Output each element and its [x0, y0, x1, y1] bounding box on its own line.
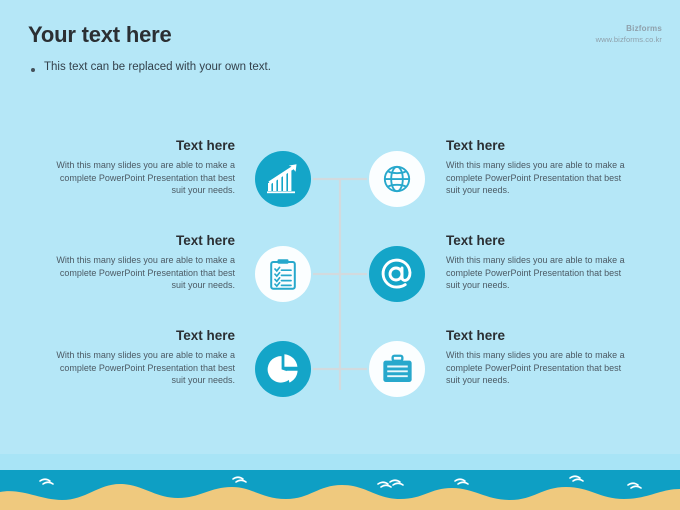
- subtitle-text: This text can be replaced with your own …: [44, 61, 271, 73]
- diagram-area: Text here With this many slides you are …: [0, 130, 680, 430]
- clipboard-checklist-icon: [270, 258, 296, 290]
- briefcase-icon: [382, 354, 413, 384]
- icon-circle-pie-chart[interactable]: [255, 341, 311, 397]
- item-heading: Text here: [446, 233, 628, 249]
- item-heading: Text here: [446, 328, 628, 344]
- row-3-right-text-block: Text here With this many slides you are …: [446, 328, 628, 387]
- beach-decoration: [0, 454, 680, 510]
- brand-block: Bizforms www.bizforms.co.kr: [596, 23, 662, 45]
- brand-name: Bizforms: [596, 23, 662, 34]
- brand-url[interactable]: www.bizforms.co.kr: [596, 34, 662, 45]
- bullet-dot-icon: [31, 68, 35, 72]
- icon-circle-bar-chart-growth[interactable]: [255, 151, 311, 207]
- item-heading: Text here: [53, 233, 235, 249]
- row-2-right-text-block: Text here With this many slides you are …: [446, 233, 628, 292]
- row-2-left-text-block: Text here With this many slides you are …: [53, 233, 235, 292]
- diagram-row: Text here With this many slides you are …: [0, 241, 680, 311]
- item-heading: Text here: [446, 138, 628, 154]
- subtitle-bullet-item: This text can be replaced with your own …: [31, 61, 271, 73]
- diagram-row: Text here With this many slides you are …: [0, 336, 680, 406]
- pie-chart-icon: [267, 353, 299, 385]
- slide-canvas: Your text here This text can be replaced…: [0, 0, 680, 510]
- icon-circle-clipboard[interactable]: [255, 246, 311, 302]
- item-body: With this many slides you are able to ma…: [446, 349, 628, 387]
- diagram-row: Text here With this many slides you are …: [0, 146, 680, 216]
- item-body: With this many slides you are able to ma…: [53, 254, 235, 292]
- icon-circle-at-sign[interactable]: [369, 246, 425, 302]
- bar-chart-growth-icon: [267, 164, 299, 194]
- row-1-left-text-block: Text here With this many slides you are …: [53, 138, 235, 197]
- item-body: With this many slides you are able to ma…: [446, 254, 628, 292]
- item-body: With this many slides you are able to ma…: [446, 159, 628, 197]
- item-heading: Text here: [53, 138, 235, 154]
- page-title: Your text here: [28, 22, 172, 48]
- row-1-right-text-block: Text here With this many slides you are …: [446, 138, 628, 197]
- icon-circle-briefcase[interactable]: [369, 341, 425, 397]
- item-body: With this many slides you are able to ma…: [53, 159, 235, 197]
- row-3-left-text-block: Text here With this many slides you are …: [53, 328, 235, 387]
- item-heading: Text here: [53, 328, 235, 344]
- item-body: With this many slides you are able to ma…: [53, 349, 235, 387]
- icon-circle-globe[interactable]: [369, 151, 425, 207]
- globe-icon: [382, 164, 412, 194]
- at-sign-icon: [380, 257, 414, 291]
